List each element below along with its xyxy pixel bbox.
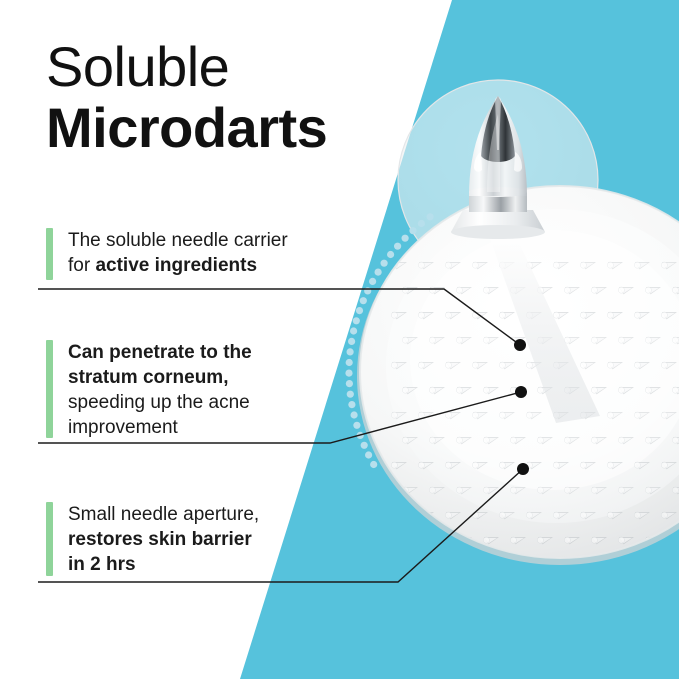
arc-dot: [427, 213, 434, 220]
arc-dot: [369, 278, 376, 285]
feature-text-2: Can penetrate to thestratum corneum,spee…: [68, 340, 252, 438]
arc-dot: [370, 461, 377, 468]
arc-dot: [394, 243, 401, 250]
title-line-microdarts: Microdarts: [46, 96, 327, 160]
arc-dot: [361, 442, 368, 449]
arc-dot: [350, 327, 357, 334]
green-accent-bar: [46, 502, 53, 576]
feature-text-regular: The soluble needle carrier: [68, 230, 288, 251]
green-accent-bar: [46, 228, 53, 280]
arc-dot: [346, 380, 353, 387]
arc-dot: [381, 260, 388, 267]
arc-dot: [348, 401, 355, 408]
arc-dot: [348, 338, 355, 345]
arc-dot: [345, 370, 352, 377]
feature-text-bold: restores skin barrier: [68, 529, 252, 550]
arc-dot: [365, 451, 372, 458]
feature-text-bold: stratum corneum,: [68, 367, 228, 388]
arc-dot: [375, 269, 382, 276]
feature-text-regular: Small needle aperture,: [68, 504, 259, 525]
arc-dot: [346, 359, 353, 366]
arc-dot: [409, 227, 416, 234]
arc-dot: [357, 432, 364, 439]
feature-text-bold: active ingredients: [95, 255, 257, 276]
arc-dot: [353, 317, 360, 324]
feature-text-1: The soluble needle carrierfor active ing…: [68, 228, 288, 280]
arc-dot: [360, 297, 367, 304]
arc-dot: [364, 287, 371, 294]
feature-text-regular: improvement: [68, 417, 178, 438]
infographic-canvas: Soluble Microdarts The soluble needle ca…: [0, 0, 679, 679]
arc-dot: [356, 307, 363, 314]
feature-block-stratum-corneum: Can penetrate to thestratum corneum,spee…: [46, 340, 252, 438]
feature-block-needle-carrier: The soluble needle carrierfor active ing…: [46, 228, 288, 280]
arc-dot: [418, 220, 425, 227]
page-title: Soluble Microdarts: [46, 36, 327, 160]
arc-dot: [353, 422, 360, 429]
arc-dot: [387, 251, 394, 258]
feature-text-regular: for: [68, 255, 95, 276]
green-accent-bar: [46, 340, 53, 438]
feature-text-bold: Can penetrate to the: [68, 342, 252, 363]
arc-dot: [347, 348, 354, 355]
feature-text-regular: speeding up the acne: [68, 392, 250, 413]
feature-block-skin-barrier: Small needle aperture,restores skin barr…: [46, 502, 259, 576]
feature-text-bold: in 2 hrs: [68, 554, 136, 575]
arc-dot: [347, 391, 354, 398]
feature-text-3: Small needle aperture,restores skin barr…: [68, 502, 259, 576]
title-line-soluble: Soluble: [46, 36, 327, 98]
arc-dot: [351, 411, 358, 418]
arc-dot: [402, 235, 409, 242]
